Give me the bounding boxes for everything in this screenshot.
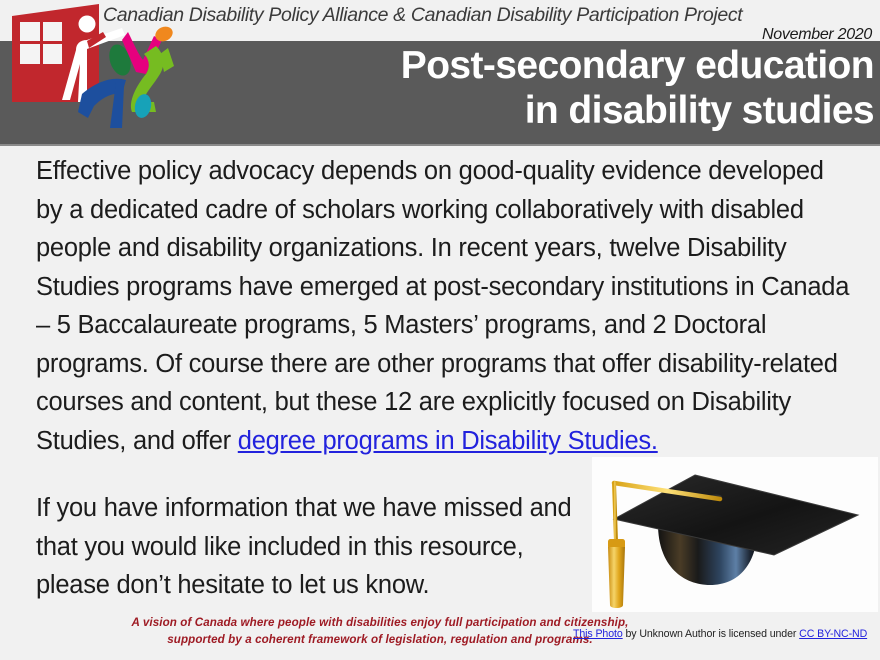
cc-license-link[interactable]: CC BY-NC-ND [799, 628, 867, 640]
photo-credit-text: by Unknown Author is licensed under [623, 628, 800, 640]
header: Canadian Disability Policy Alliance & Ca… [0, 0, 880, 148]
graduation-cap-photo [592, 457, 878, 612]
logo-window-mullion-h [20, 41, 62, 44]
issue-date: November 2020 [762, 26, 872, 44]
tassel-threads [608, 547, 625, 608]
cdpa-cdpp-logo-icon [4, 2, 174, 142]
photo-credit: This Photo by Unknown Author is licensed… [573, 628, 878, 641]
organization-title: Canadian Disability Policy Alliance & Ca… [103, 4, 873, 27]
tassel-drop-cord [614, 483, 616, 541]
degree-programs-link[interactable]: degree programs in Disability Studies. [238, 427, 658, 455]
this-photo-link[interactable]: This Photo [573, 628, 623, 640]
graduation-cap-icon [592, 457, 878, 612]
paragraph-one-text: Effective policy advocacy depends on goo… [36, 152, 856, 460]
body-paragraph-one: Effective policy advocacy depends on goo… [36, 152, 856, 460]
paragraph-one-run: Effective policy advocacy depends on goo… [36, 157, 849, 455]
body-paragraph-two: If you have information that we have mis… [36, 489, 596, 605]
